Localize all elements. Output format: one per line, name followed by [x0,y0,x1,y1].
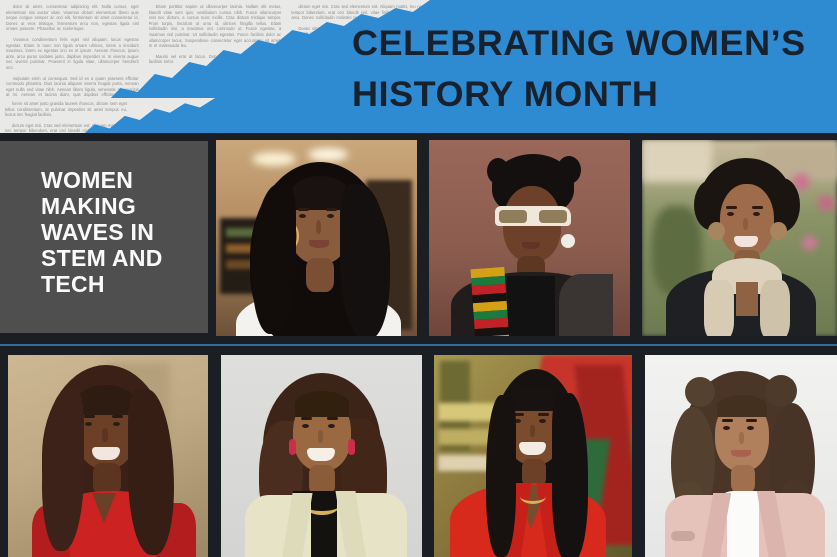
page-title: Celebrating Women’s History Month [352,18,836,120]
caption-panel: Women Making Waves in STEM and Tech [0,141,208,333]
portrait-woman-cream-blazer[interactable] [221,355,422,557]
newspaper-paragraph: dolor sit amet, consectetur adipiscing e… [6,4,139,32]
caption-text: Women Making Waves in STEM and Tech [41,167,206,297]
portrait-woman-sunglasses-kente[interactable] [429,140,630,336]
portrait-woman-white-top[interactable] [216,140,417,336]
row-divider [0,344,837,346]
portrait-woman-afro-scarf[interactable] [642,140,837,336]
poster: Celebrating Women’s History Month dolor … [0,0,837,557]
portrait-woman-red-top[interactable] [8,355,208,557]
portrait-woman-pink-blazer[interactable] [645,355,837,557]
newspaper-paragraph: lorem sit amet justo gravida laoreet rho… [5,101,127,118]
newspaper-paragraph: Vivamus condimentum felis eget nisl aliq… [6,37,139,71]
portrait-woman-red-blazer[interactable] [434,355,632,557]
